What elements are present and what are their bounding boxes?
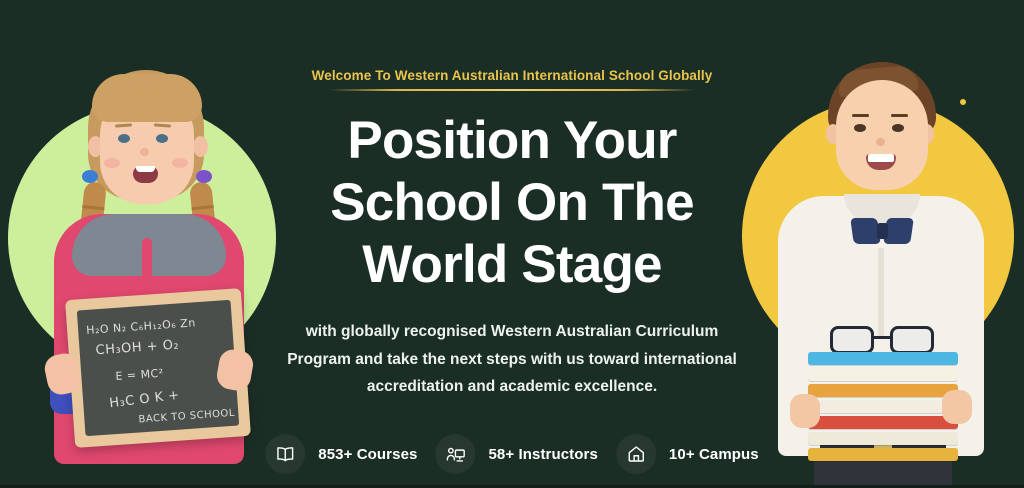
hero-banner: H₂O N₂ C₆H₁₂O₆ Zn CH₃OH + O₂ E = MC² H₃C…	[0, 0, 1024, 488]
chalkboard-line: E = MC²	[115, 367, 164, 383]
schoolboy-illustration	[774, 58, 988, 488]
book	[808, 352, 958, 365]
right-image-panel	[732, 0, 1024, 488]
book	[808, 384, 958, 397]
stat-item-instructors[interactable]: 58+ Instructors	[435, 434, 597, 474]
home-icon	[616, 434, 656, 474]
stat-label: 58+ Instructors	[488, 446, 597, 463]
stat-label: 853+ Courses	[318, 446, 417, 463]
book	[808, 400, 958, 413]
schoolgirl-illustration: H₂O N₂ C₆H₁₂O₆ Zn CH₃OH + O₂ E = MC² H₃C…	[44, 62, 254, 488]
headline-line: School On The	[330, 173, 694, 232]
chalkboard-line: H₂O N₂ C₆H₁₂O₆ Zn	[86, 316, 196, 337]
stat-label: 10+ Campus	[669, 446, 759, 463]
headline-line: World Stage	[362, 235, 661, 294]
book	[808, 368, 958, 381]
chalkboard-line: H₃C O K +	[109, 388, 181, 411]
hero-content: Welcome To Western Australian Internatio…	[277, 0, 747, 488]
left-image-panel: H₂O N₂ C₆H₁₂O₆ Zn CH₃OH + O₂ E = MC² H₃C…	[0, 0, 292, 488]
stat-item-campus[interactable]: 10+ Campus	[616, 434, 759, 474]
chalkboard-line: BACK TO SCHOOL	[138, 408, 235, 426]
book-stack	[808, 352, 958, 464]
book	[808, 448, 958, 461]
book	[808, 416, 958, 429]
eyebrow-underline	[329, 89, 695, 91]
stats-row: 853+ Courses58+ Instructors10+ Campus	[265, 434, 758, 474]
headline-line: Position Your	[347, 111, 676, 170]
bow-tie	[852, 218, 912, 244]
eyebrow-block: Welcome To Western Australian Internatio…	[312, 68, 713, 91]
open-book-icon	[265, 434, 305, 474]
eyeglasses	[830, 326, 934, 354]
stat-item-courses[interactable]: 853+ Courses	[265, 434, 417, 474]
page-title: Position YourSchool On TheWorld Stage	[330, 110, 694, 296]
chalkboard-line: CH₃OH + O₂	[95, 337, 180, 358]
instructor-presenting-icon	[435, 434, 475, 474]
book	[808, 432, 958, 445]
eyebrow-text: Welcome To Western Australian Internatio…	[312, 68, 713, 83]
hero-subheading: with globally recognised Western Austral…	[286, 318, 738, 401]
